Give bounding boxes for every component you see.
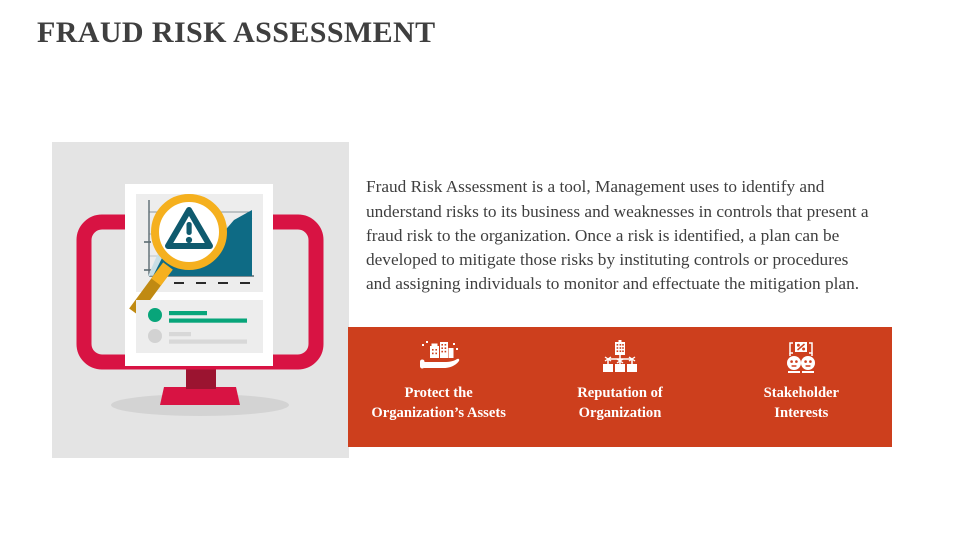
benefit-label-reputation: Reputation of Organization	[577, 383, 663, 423]
list-bar-active-long	[169, 319, 247, 323]
benefits-band: Protect the Organization’s Assets	[348, 327, 892, 447]
benefit-label-protect-assets: Protect the Organization’s Assets	[371, 383, 505, 423]
benefit-item-protect-assets[interactable]: Protect the Organization’s Assets	[353, 327, 525, 423]
list-dot-inactive	[148, 329, 162, 343]
organization-chart-icon	[599, 340, 641, 374]
list-bar-inactive-long	[169, 340, 247, 344]
benefit-item-reputation[interactable]: Reputation of Organization	[534, 327, 706, 423]
benefit-label-line1: Stakeholder	[764, 385, 839, 401]
stakeholders-percentage-icon	[780, 340, 822, 374]
monitor-base-shape	[160, 387, 240, 405]
fraud-dashboard-illustration	[52, 142, 349, 458]
benefit-item-stakeholder[interactable]: Stakeholder Interests	[715, 327, 887, 423]
list-card	[136, 300, 263, 353]
benefit-label-line2: Organization’s Assets	[371, 405, 505, 421]
benefit-label-line2: Organization	[579, 405, 662, 421]
hand-holding-assets-icon	[418, 340, 460, 374]
warning-exclamation-dot	[186, 237, 192, 243]
benefit-label-line1: Protect the	[405, 385, 473, 401]
list-bar-inactive-short	[169, 332, 191, 336]
list-dot-active	[148, 308, 162, 322]
warning-exclamation-bar	[187, 222, 192, 235]
description-paragraph: Fraud Risk Assessment is a tool, Managem…	[366, 175, 874, 296]
illustration-panel	[52, 142, 349, 458]
benefit-label-line2: Interests	[774, 405, 828, 421]
benefit-label-stakeholder: Stakeholder Interests	[764, 383, 839, 423]
page-title: FRAUD RISK ASSESSMENT	[37, 16, 436, 50]
benefit-label-line1: Reputation of	[577, 385, 663, 401]
list-bar-active-short	[169, 311, 207, 315]
